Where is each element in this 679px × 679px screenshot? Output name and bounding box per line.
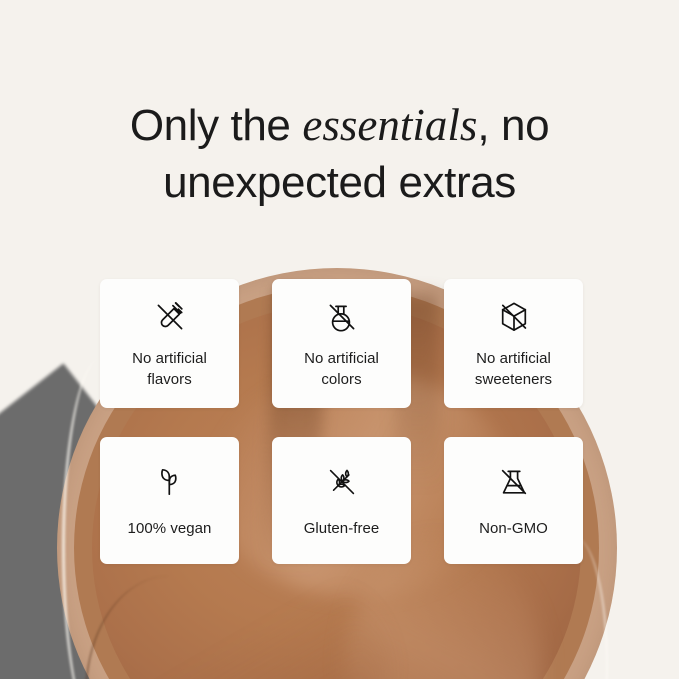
sugar-cube-slash-icon xyxy=(493,295,535,339)
badge-non-gmo: Non-GMO xyxy=(444,437,583,564)
badge-label: No artificialsweeteners xyxy=(475,348,552,390)
page-title: Only the essentials, nounexpected extras xyxy=(0,97,679,211)
erlenmeyer-flask-slash-icon xyxy=(493,460,535,504)
badge-no-artificial-flavors: No artificialflavors xyxy=(100,279,239,408)
badge-label: Gluten-free xyxy=(304,518,380,539)
sprout-icon xyxy=(149,460,191,504)
headline-line2: unexpected extras xyxy=(163,158,516,207)
badge-label: Non-GMO xyxy=(479,518,548,539)
wheat-slash-icon xyxy=(321,460,363,504)
badge-label: 100% vegan xyxy=(128,518,212,539)
badge-label: No artificialcolors xyxy=(304,348,379,390)
badge-vegan: 100% vegan xyxy=(100,437,239,564)
headline-emphasis: essentials xyxy=(302,100,477,150)
headline-line1-before: Only the xyxy=(130,101,303,150)
headline-line1-after: , no xyxy=(477,101,549,150)
claims-badge-grid: No artificialflavors No artificialcolors xyxy=(100,279,584,564)
badge-no-artificial-colors: No artificialcolors xyxy=(272,279,411,408)
badge-label: No artificialflavors xyxy=(132,348,207,390)
test-tube-slash-icon xyxy=(149,295,191,339)
flask-round-slash-icon xyxy=(321,295,363,339)
badge-gluten-free: Gluten-free xyxy=(272,437,411,564)
badge-no-artificial-sweeteners: No artificialsweeteners xyxy=(444,279,583,408)
